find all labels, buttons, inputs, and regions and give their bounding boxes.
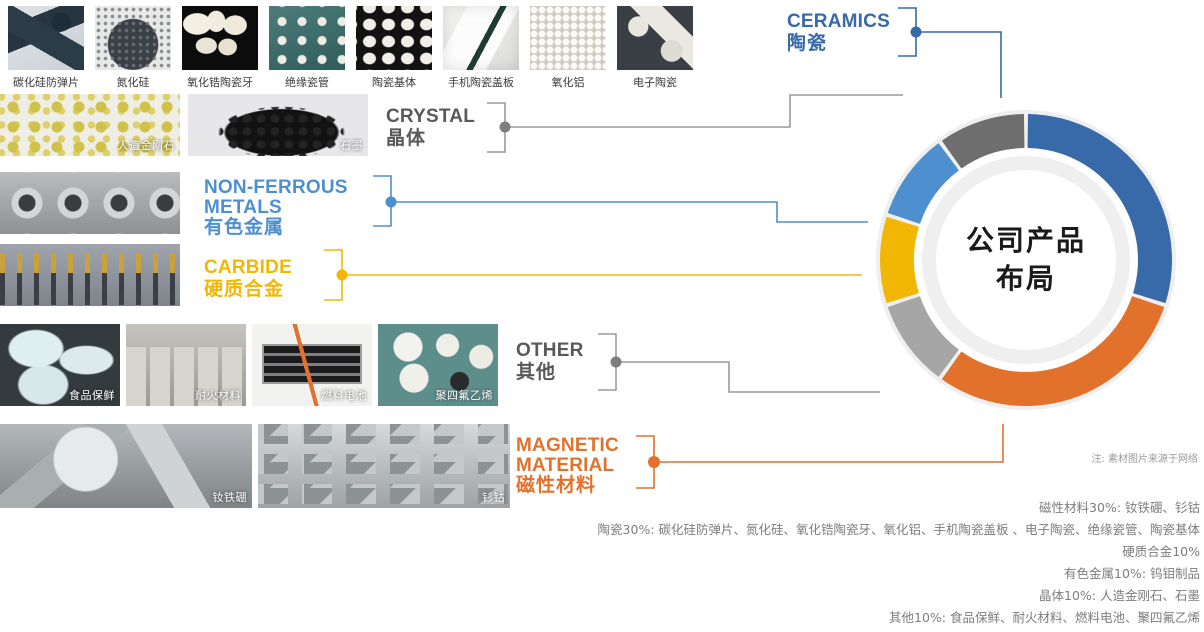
category-label-en: NON-FERROUS METALS [204,178,364,218]
category-label-en: CERAMICS [787,12,890,33]
legend-line: 有色金属10%: 钨钼制品 [340,563,1200,585]
photo-caption: 碳化硅防弹片 [8,74,84,90]
photo-tile [356,6,432,70]
photo-caption: 燃料电池 [321,387,367,403]
category-label-en-text: NON-FERROUS METALS [204,178,364,218]
photo-caption: 手机陶瓷盖板 [443,74,519,90]
photo-caption: 人造金刚石 [118,137,176,153]
category-label-en-text: MAGNETIC MATERIAL [516,436,646,476]
category-label-en: CARBIDE [204,258,292,279]
photo-tile: 聚四氟乙烯 [378,324,498,406]
connector-dot-crystal [500,122,511,133]
photo-tile: 燃料电池 [252,324,372,406]
category-label-zh: 有色金属 [204,218,364,238]
donut-chart: 公司产品 布局 [848,82,1204,438]
category-label-magnetic[interactable]: MAGNETIC MATERIAL 磁性材料 [516,436,646,495]
category-label-zh: 磁性材料 [516,476,646,496]
category-label-other[interactable]: OTHER 其他 [516,341,584,382]
photo-tile: 钐钴 [258,424,510,508]
category-label-zh: 陶瓷 [787,33,890,54]
category-label-zh: 硬质合金 [204,279,292,300]
connector-nonferrous [373,176,868,226]
photo-detail [8,6,84,70]
category-label-en: OTHER [516,341,584,362]
photo-detail [0,172,180,234]
category-label-crystal[interactable]: CRYSTAL 晶体 [386,107,475,148]
category-label-en: CRYSTAL [386,107,475,128]
legend-line: 陶瓷30%: 碳化硅防弹片、氮化硅、氧化锆陶瓷牙、氧化铝、手机陶瓷盖板 、电子陶… [340,519,1200,541]
center-line-1: 公司产品 [966,222,1086,260]
legend-line: 硬质合金10% [340,541,1200,563]
source-note: 注: 素材图片来源于网络 [1091,450,1198,465]
photo-detail [182,6,258,70]
photo-tile: 人造金刚石 [0,94,180,156]
legend-line: 其他10%: 食品保鲜、耐火材料、燃料电池、聚四氟乙烯 [340,607,1200,629]
photo-caption: 石墨 [340,137,363,153]
connector-dot-magnetic [648,456,660,468]
photo-caption: 耐火材料 [195,387,241,403]
photo-detail [617,6,693,70]
category-label-carbide[interactable]: CARBIDE 硬质合金 [204,258,292,299]
category-label-zh: 其他 [516,362,584,383]
legend-list: 磁性材料30%: 钕铁硼、钐钴 陶瓷30%: 碳化硅防弹片、氮化硅、氧化锆陶瓷牙… [340,497,1200,629]
photo-caption: 聚四氟乙烯 [436,387,494,403]
category-label-en: MAGNETIC MATERIAL [516,436,646,476]
photo-caption: 绝缘瓷管 [269,74,345,90]
photo-tile [8,6,84,70]
photo-detail [95,6,171,70]
photo-tile: 食品保鲜 [0,324,120,406]
photo-detail [443,6,519,70]
photo-tile: 钕铁硼 [0,424,252,508]
photo-tile [182,6,258,70]
photo-tile [95,6,171,70]
legend-line: 磁性材料30%: 钕铁硼、钐钴 [340,497,1200,519]
connector-dot-carbide [337,270,348,281]
center-line-2: 布局 [996,260,1056,298]
photo-detail [0,244,180,306]
photo-tile [0,244,180,306]
photo-tile [443,6,519,70]
photo-detail [269,6,345,70]
connector-crystal [487,95,903,152]
photo-caption: 氧化铝 [530,74,606,90]
photo-tile: 石墨 [188,94,368,156]
photo-tile [269,6,345,70]
photo-detail [258,424,510,508]
photo-caption: 陶瓷基体 [356,74,432,90]
category-label-ceramics[interactable]: CERAMICS 陶瓷 [787,12,890,53]
category-label-zh: 晶体 [386,128,475,149]
photo-detail [530,6,606,70]
photo-caption: 氮化硅 [95,74,171,90]
connector-other [598,334,880,392]
photo-detail [356,6,432,70]
connector-dot-nonferrous [386,197,397,208]
infographic-root: 碳化硅防弹片 氮化硅 氧化锆陶瓷牙 绝缘瓷管 陶瓷基体 手机陶瓷盖板 氧化铝 电… [0,0,1204,632]
donut-center-label: 公司产品 布局 [848,82,1204,438]
connector-carbide [324,250,862,300]
category-label-nonferrous[interactable]: NON-FERROUS METALS 有色金属 [204,178,364,237]
photo-tile: 耐火材料 [126,324,246,406]
photo-tile [0,172,180,234]
connector-dot-ceramics [911,27,922,38]
photo-caption: 食品保鲜 [69,387,115,403]
photo-tile [617,6,693,70]
photo-caption: 钕铁硼 [213,489,248,505]
photo-caption: 氧化锆陶瓷牙 [182,74,258,90]
legend-line: 晶体10%: 人造金刚石、石墨 [340,585,1200,607]
connector-dot-other [611,357,622,368]
photo-caption: 电子陶瓷 [617,74,693,90]
photo-tile [530,6,606,70]
